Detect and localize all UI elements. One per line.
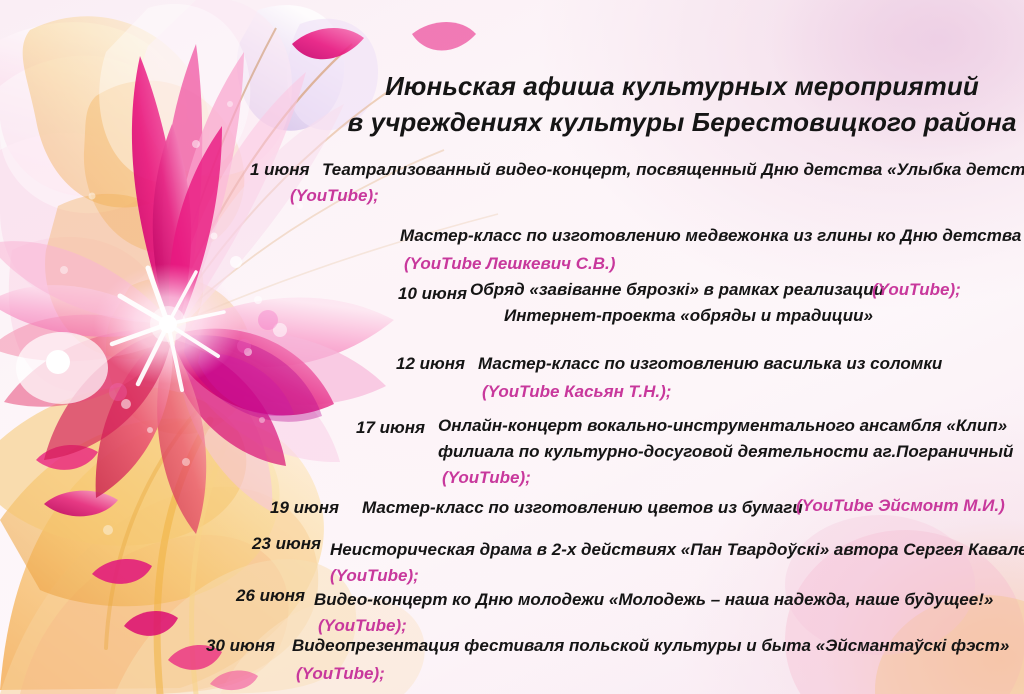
event-description-line2: филиала по культурно-досуговой деятельно… bbox=[438, 442, 1013, 462]
event-date: 26 июня bbox=[236, 586, 305, 606]
event-description: Обряд «завіванне бярозкі» в рамках реали… bbox=[470, 280, 884, 300]
event-description: Мастер-класс по изготовлению василька из… bbox=[478, 354, 942, 374]
page-title: Июньская афиша культурных мероприятий в … bbox=[340, 68, 1024, 140]
event-source[interactable]: (YouTube Эйсмонт М.И.) bbox=[796, 496, 1005, 516]
event-description: Театрализованный видео-концерт, посвящен… bbox=[322, 160, 1024, 180]
title-line-1: Июньская афиша культурных мероприятий bbox=[385, 71, 979, 101]
event-source[interactable]: (YouTube); bbox=[296, 664, 385, 684]
poster-content: Июньская афиша культурных мероприятий в … bbox=[0, 0, 1024, 694]
event-date: 19 июня bbox=[270, 498, 339, 518]
poster: Июньская афиша культурных мероприятий в … bbox=[0, 0, 1024, 694]
event-source[interactable]: (YouTube); bbox=[442, 468, 531, 488]
event-description: Онлайн-концерт вокально-инструментальног… bbox=[438, 416, 1007, 436]
event-date: 1 июня bbox=[250, 160, 310, 180]
event-date: 30 июня bbox=[206, 636, 275, 656]
event-source[interactable]: (YouTube); bbox=[290, 186, 379, 206]
event-description: Неисторическая драма в 2-х действиях «Па… bbox=[330, 540, 1024, 560]
event-description: Видео-концерт ко Дню молодежи «Молодежь … bbox=[314, 590, 993, 610]
event-date: 17 июня bbox=[356, 418, 425, 438]
event-description: Мастер-класс по изготовлению медвежонка … bbox=[400, 226, 1021, 246]
event-source[interactable]: (YouTube Касьян Т.Н.); bbox=[482, 382, 671, 402]
title-line-2: в учреждениях культуры Берестовицкого ра… bbox=[340, 104, 1024, 140]
event-source[interactable]: (YouTube); bbox=[872, 280, 961, 300]
event-description: Мастер-класс по изготовлению цветов из б… bbox=[362, 498, 803, 518]
event-source[interactable]: (YouTube Лешкевич С.В.) bbox=[404, 254, 615, 274]
event-description: Видеопрезентация фестиваля польской куль… bbox=[292, 636, 1009, 656]
event-date: 12 июня bbox=[396, 354, 465, 374]
event-description-line2: Интернет-проекта «обряды и традиции» bbox=[504, 306, 873, 326]
event-date: 10 июня bbox=[398, 284, 467, 304]
event-source[interactable]: (YouTube); bbox=[318, 616, 407, 636]
event-source[interactable]: (YouTube); bbox=[330, 566, 419, 586]
event-date: 23 июня bbox=[252, 534, 321, 554]
